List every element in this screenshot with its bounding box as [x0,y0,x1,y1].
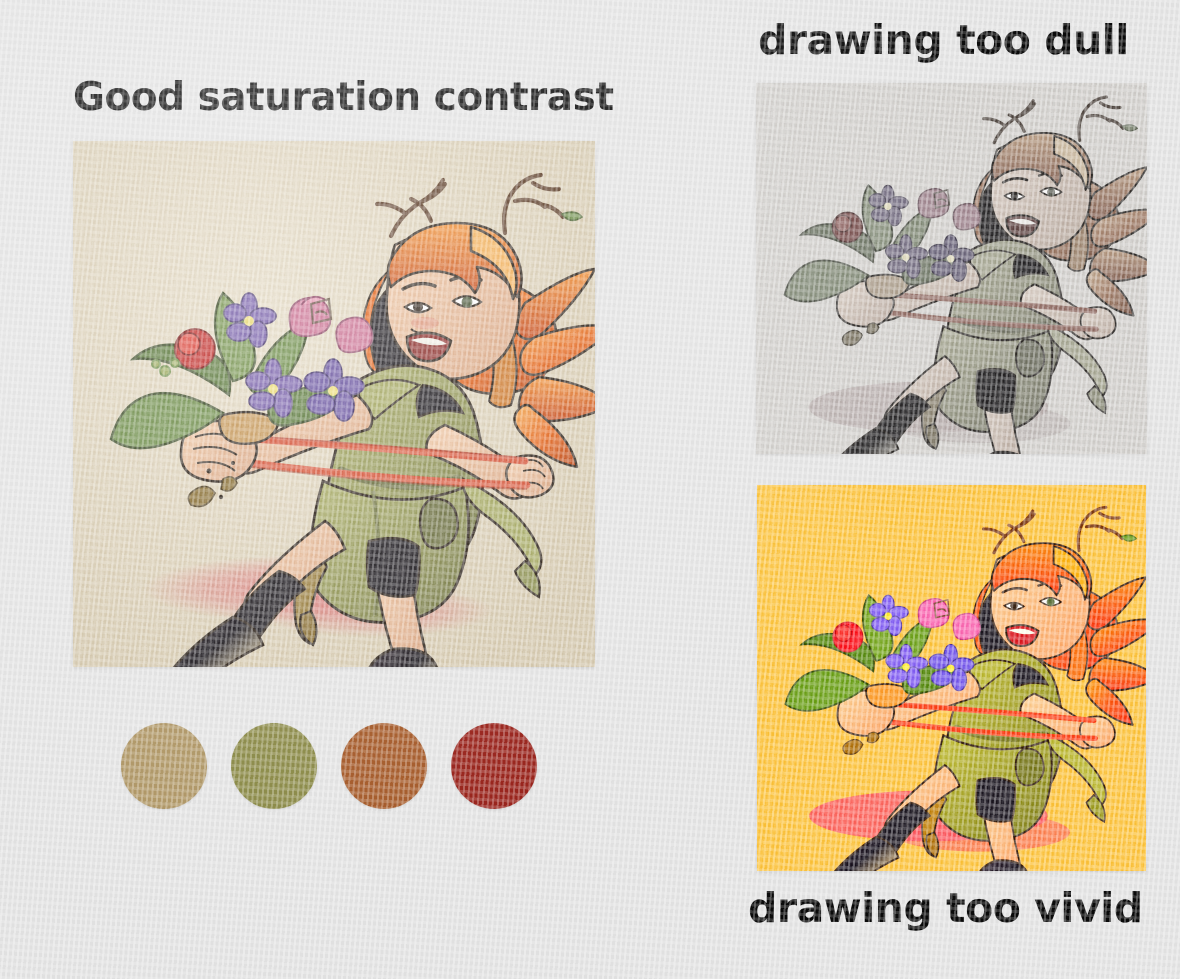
palette-swatch-brick-red[interactable] [451,723,537,809]
palette-swatch-tan[interactable] [121,723,207,809]
artwork-illustration-good [73,141,595,667]
palette-swatch-row [121,723,537,809]
artwork-panel-dull[interactable] [756,83,1147,454]
palette-swatch-sienna[interactable] [341,723,427,809]
palette-swatch-olive[interactable] [231,723,317,809]
composition-stage: Good saturation contrast [0,0,1180,979]
heading-drawing-too-dull: drawing too dull [758,16,1129,64]
heading-drawing-too-vivid: drawing too vivid [748,884,1143,932]
artwork-panel-good[interactable] [73,141,595,667]
heading-good-saturation: Good saturation contrast [73,75,613,120]
artwork-illustration-vivid [757,485,1146,871]
artwork-illustration-dull [756,83,1147,454]
artwork-panel-vivid[interactable] [757,485,1146,871]
